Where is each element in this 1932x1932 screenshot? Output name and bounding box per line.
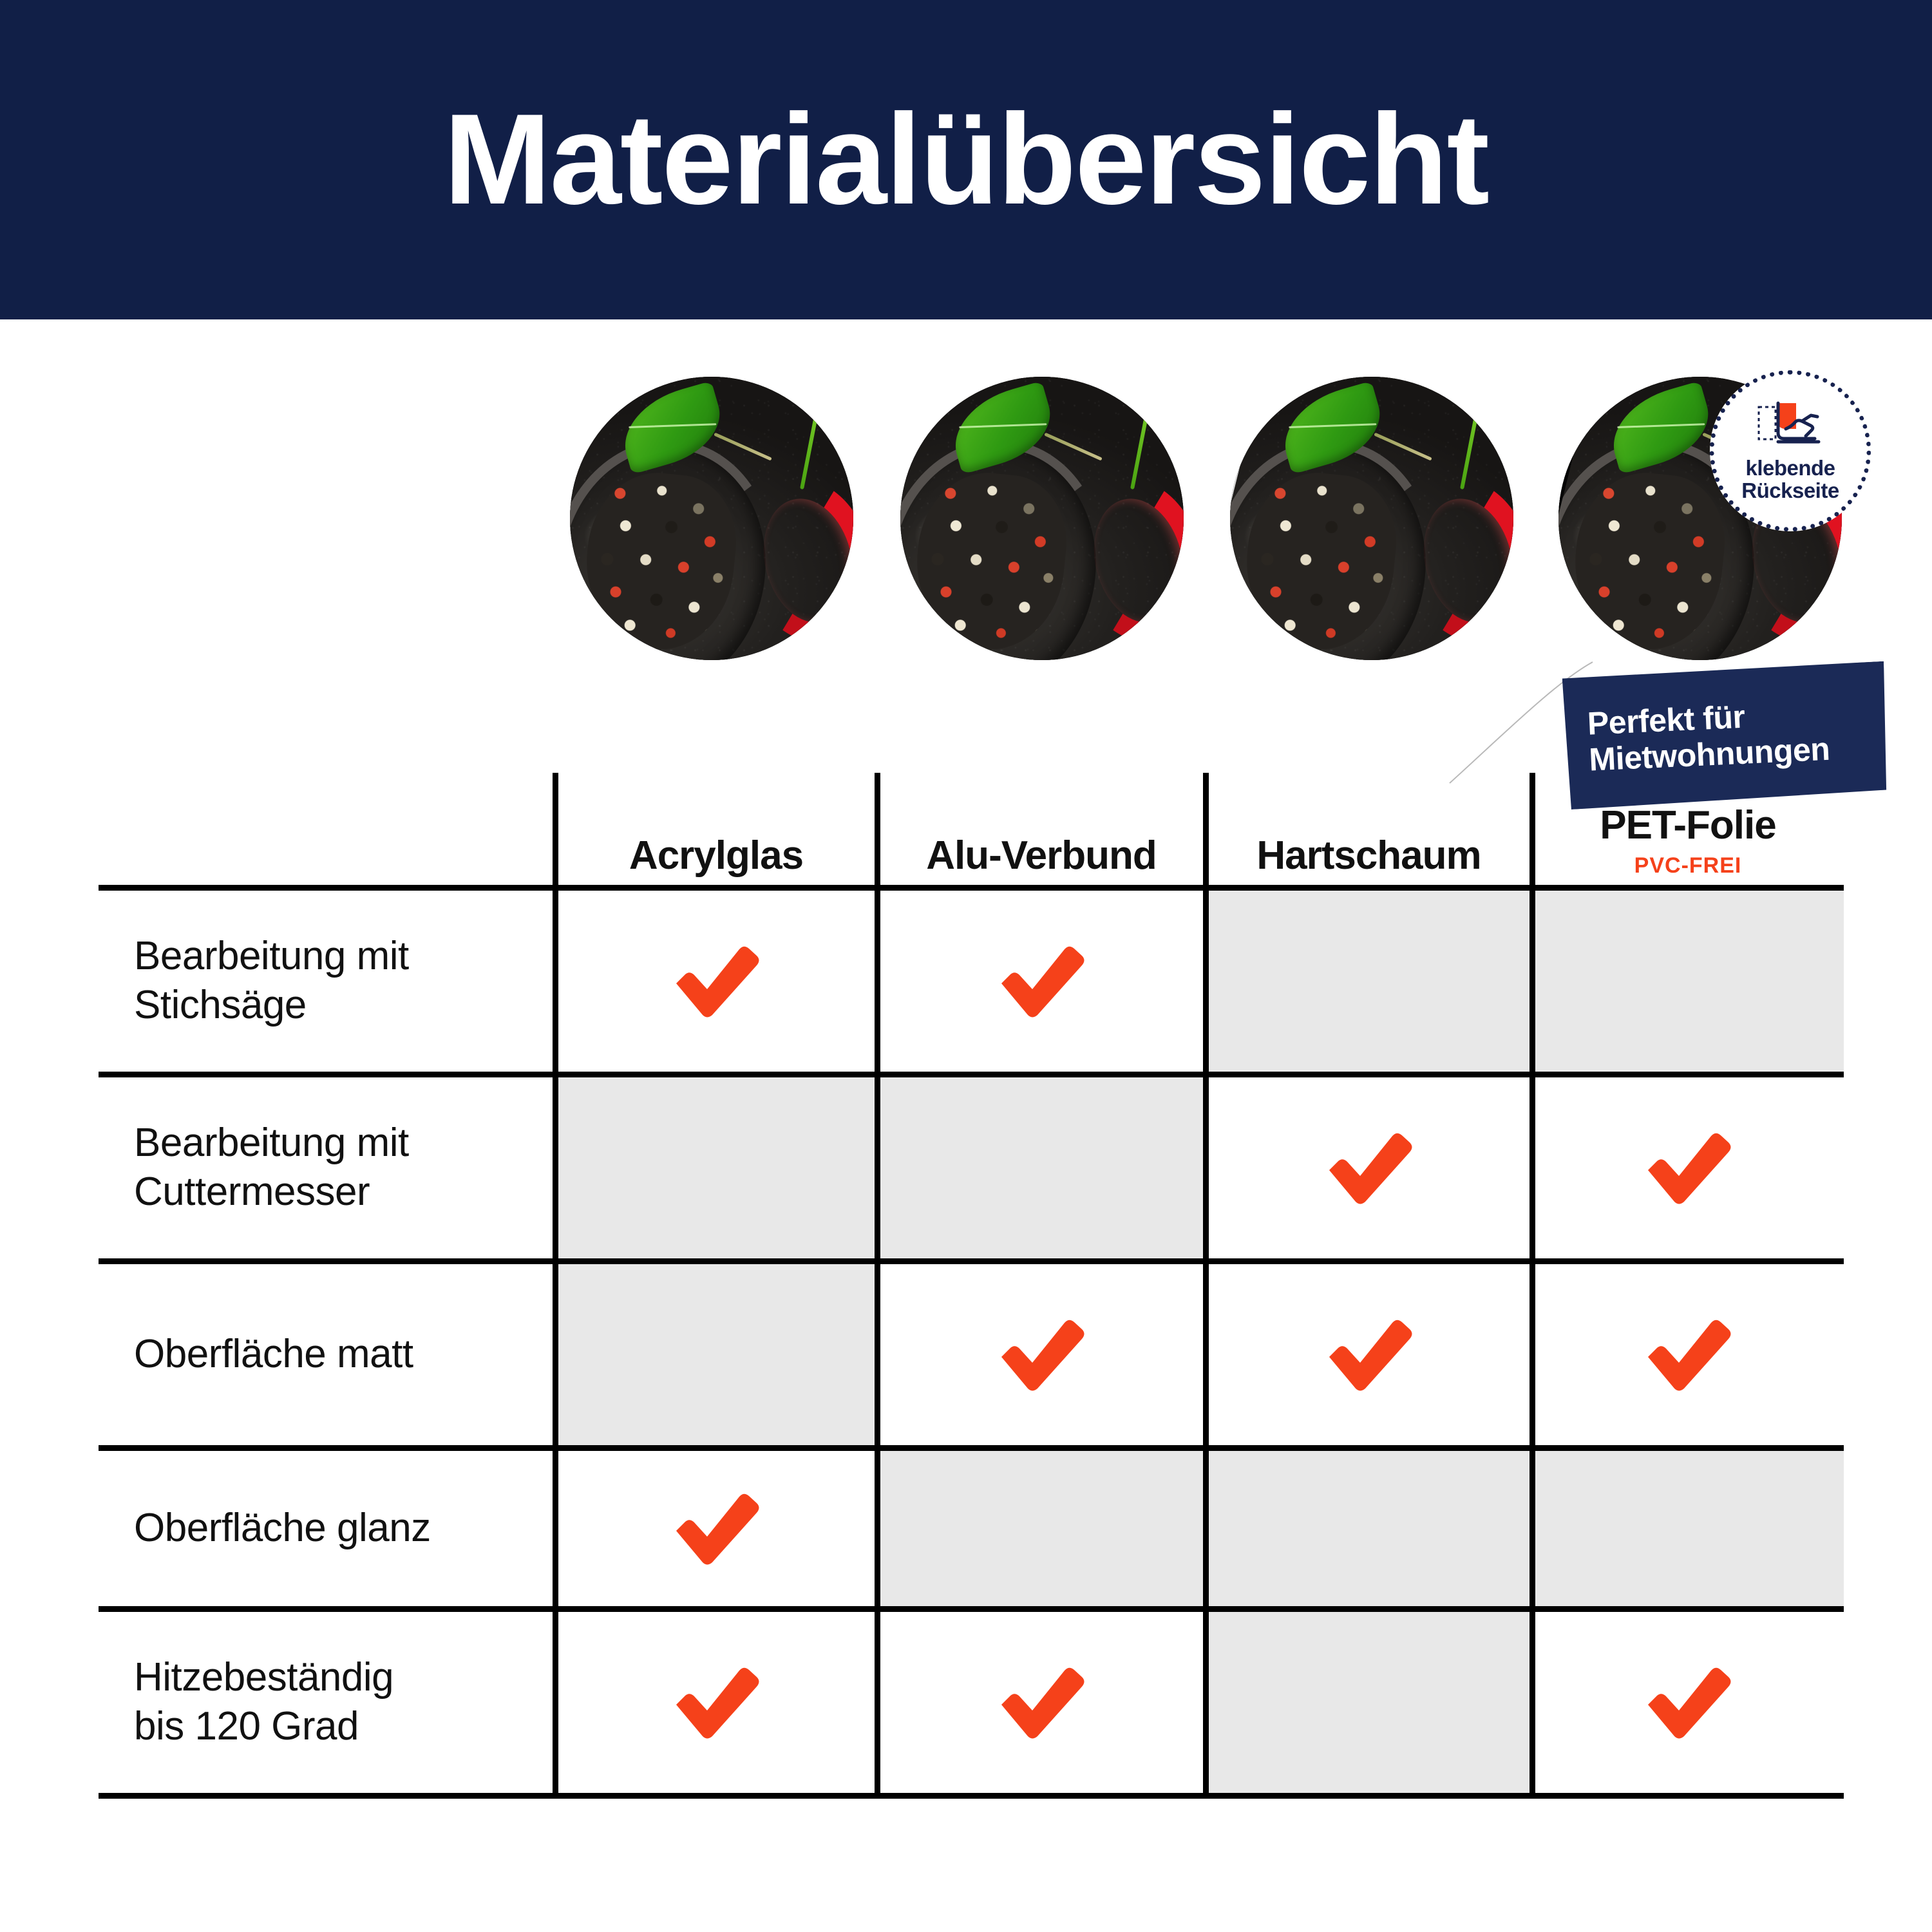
edge-material — [1230, 377, 1268, 660]
column-header-label: Hartschaum — [1256, 833, 1481, 878]
cell-r2-c4-check — [1532, 1074, 1844, 1261]
check-icon — [555, 1609, 877, 1795]
cell-r3-c1-empty — [555, 1261, 877, 1448]
product-photo-circle — [570, 377, 853, 660]
table-rule-horizontal — [99, 1258, 1844, 1264]
cell-r5-c2-check — [877, 1609, 1206, 1795]
check-icon — [1532, 1074, 1844, 1261]
row-label-line2: Cuttermesser — [134, 1168, 409, 1217]
cell-r5-c3-empty — [1206, 1609, 1532, 1795]
row-label-2: Bearbeitung mitCuttermesser — [99, 1074, 555, 1261]
cell-r2-c3-check — [1206, 1074, 1532, 1261]
acrylic-edge — [570, 377, 853, 660]
cell-r1-c3-empty — [1206, 887, 1532, 1074]
badge-label-line1: klebende — [1745, 457, 1835, 480]
cell-r4-c1-check — [555, 1448, 877, 1609]
row-label-line1: Hitzebeständig — [134, 1653, 393, 1702]
row-label-line2: bis 120 Grad — [134, 1702, 393, 1751]
cell-r2-c2-empty — [877, 1074, 1206, 1261]
product-photo-circle — [900, 377, 1184, 660]
row-label-line1: Oberfläche glanz — [134, 1504, 431, 1553]
table-rule-horizontal — [99, 885, 1844, 891]
row-label-3: Oberfläche matt — [99, 1261, 555, 1448]
cell-r4-c4-empty — [1532, 1448, 1844, 1609]
table-rule-horizontal — [99, 1606, 1844, 1612]
table-rule-horizontal — [99, 1072, 1844, 1077]
cell-r1-c1-check — [555, 887, 877, 1074]
page-header: Materialübersicht — [0, 0, 1932, 319]
cell-r3-c4-check — [1532, 1261, 1844, 1448]
edge-shadow — [1558, 377, 1596, 660]
column-header-2: Alu-Verbund — [877, 773, 1206, 887]
badge-label-line2: Rückseite — [1741, 480, 1839, 502]
cell-r5-c1-check — [555, 1609, 877, 1795]
rigid-foam-edge — [1230, 377, 1513, 660]
product-photo-circle — [1230, 377, 1513, 660]
product-image-acrylglas — [570, 377, 853, 660]
rental-suitable-ribbon: Perfekt für Mietwohnungen — [1562, 661, 1890, 810]
cell-r3-c3-check — [1206, 1261, 1532, 1448]
product-image-hartschaum — [1230, 377, 1513, 660]
cell-r5-c4-check — [1532, 1609, 1844, 1795]
check-icon — [1532, 1261, 1844, 1448]
check-icon — [1532, 1609, 1844, 1795]
cell-r2-c1-empty — [555, 1074, 877, 1261]
table-corner-cell — [99, 773, 555, 887]
column-header-1: Acrylglas — [555, 773, 877, 887]
row-label-4: Oberfläche glanz — [99, 1448, 555, 1609]
check-icon — [877, 1609, 1206, 1795]
cell-r3-c2-check — [877, 1261, 1206, 1448]
material-comparison-table: AcrylglasAlu-VerbundHartschaumPET-FolieP… — [99, 773, 1844, 1797]
adhesive-back-badge: klebende Rückseite — [1710, 370, 1871, 531]
row-label-1: Bearbeitung mitStichsäge — [99, 887, 555, 1074]
product-image-row — [0, 361, 1932, 683]
check-icon — [555, 1448, 877, 1609]
row-label-line1: Bearbeitung mit — [134, 932, 409, 981]
table-rule-vertical — [875, 773, 880, 1795]
peel-sticker-icon — [1757, 399, 1824, 453]
check-icon — [1206, 1074, 1532, 1261]
check-icon — [877, 1261, 1206, 1448]
aluminium-composite-edge — [900, 377, 1184, 660]
table-rule-vertical — [1529, 773, 1535, 1795]
row-label-line2: Stichsäge — [134, 981, 409, 1030]
table-rule-vertical — [553, 773, 558, 1795]
cell-r4-c2-empty — [877, 1448, 1206, 1609]
table-rule-horizontal — [99, 1445, 1844, 1451]
check-icon — [555, 887, 877, 1074]
cell-r4-c3-empty — [1206, 1448, 1532, 1609]
column-header-label: Acrylglas — [629, 833, 803, 878]
product-image-alu-verbund — [900, 377, 1184, 660]
check-icon — [1206, 1261, 1532, 1448]
cell-r1-c2-check — [877, 887, 1206, 1074]
check-icon — [877, 887, 1206, 1074]
page-title: Materialübersicht — [444, 95, 1488, 224]
column-header-badge: PVC-FREI — [1634, 853, 1742, 878]
cell-r1-c4-empty — [1532, 887, 1844, 1074]
row-label-line1: Bearbeitung mit — [134, 1119, 409, 1168]
table-rule-horizontal — [99, 1793, 1844, 1799]
row-label-5: Hitzebeständigbis 120 Grad — [99, 1609, 555, 1795]
table-rule-vertical — [1203, 773, 1209, 1795]
column-header-label: PET-Folie — [1600, 802, 1776, 848]
row-label-line1: Oberfläche matt — [134, 1330, 413, 1379]
column-header-label: Alu-Verbund — [926, 833, 1157, 878]
